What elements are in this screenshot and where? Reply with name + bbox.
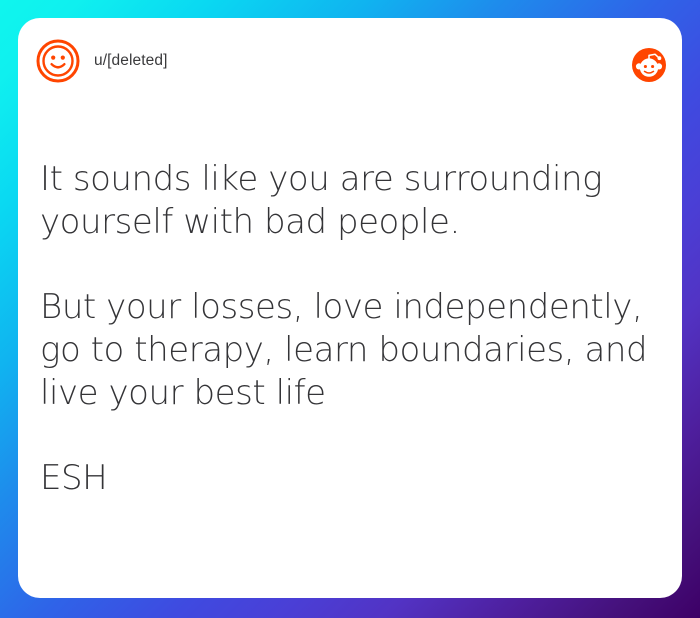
card-header: u/[deleted]: [18, 18, 682, 104]
comment-body: It sounds like you are surrounding yours…: [40, 158, 660, 500]
comment-paragraph-1: It sounds like you are surrounding yours…: [40, 158, 660, 244]
screenshot-root: u/[deleted] It sounds like you are surro…: [0, 0, 700, 618]
reddit-comment-card: u/[deleted] It sounds like you are surro…: [18, 18, 682, 598]
username-label: u/[deleted]: [94, 52, 168, 70]
comment-paragraph-2: But your losses, love independently, go …: [40, 286, 660, 415]
smiley-face-avatar-icon[interactable]: [36, 39, 80, 83]
reddit-snoo-icon[interactable]: [632, 48, 666, 82]
comment-paragraph-3: ESH: [40, 457, 660, 500]
